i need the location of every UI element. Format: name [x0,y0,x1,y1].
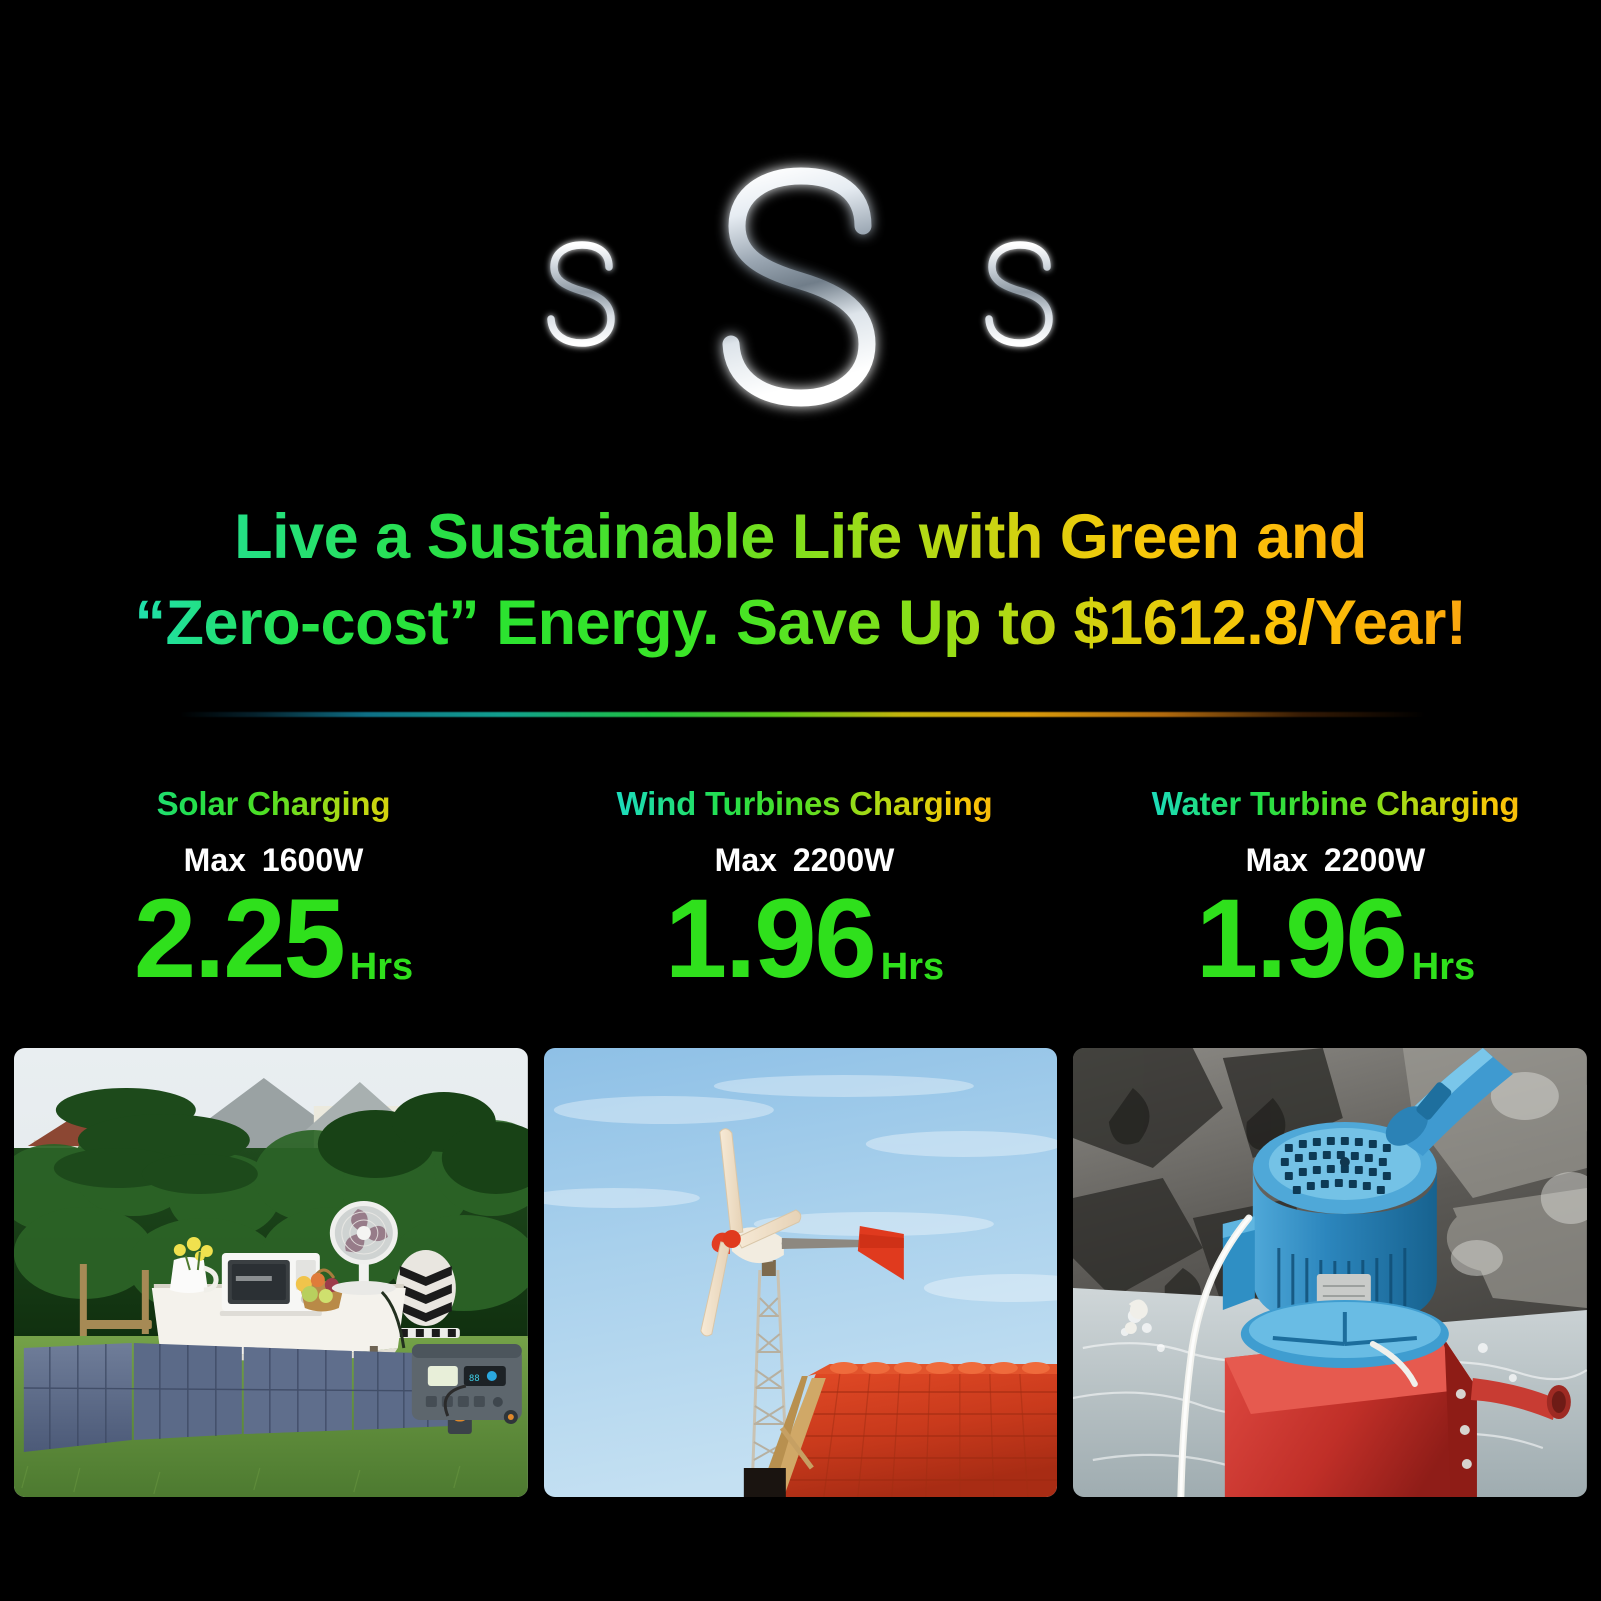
hours-unit: Hrs [881,948,944,992]
headline-line-2: “Zero-cost” Energy. Save Up to $1612.8/Y… [0,580,1601,666]
charging-stats-row: Solar Charging Max1600W 2.25 Hrs Wind Tu… [0,780,1601,992]
gradient-divider [180,712,1425,717]
headline: Live a Sustainable Life with Green and “… [0,494,1601,666]
hours-number: 1.96 [665,886,875,992]
stat-column-wind: Wind Turbines Charging Max2200W 1.96 Hrs [539,780,1070,992]
stat-column-water: Water Turbine Charging Max2200W 1.96 Hrs [1070,780,1601,992]
water-turbine-stream-photo [1073,1048,1587,1497]
stat-title-wind: Wind Turbines Charging [545,780,1064,828]
max-label: Max [715,842,777,878]
stat-title-solar: Solar Charging [14,780,533,828]
max-value: 1600W [262,842,363,878]
photo-strip: 88 [14,1048,1587,1497]
promo-page: Live a Sustainable Life with Green and “… [0,0,1601,1601]
dollar-sign-small-left-icon [523,223,641,373]
dollar-signs-icon [0,128,1601,468]
max-value: 2200W [1324,842,1425,878]
stat-max-water: Max2200W [1076,840,1595,880]
stat-max-wind: Max2200W [545,840,1064,880]
stat-column-solar: Solar Charging Max1600W 2.25 Hrs [0,780,539,992]
stat-hours-wind: 1.96 Hrs [545,886,1064,992]
stat-max-solar: Max1600W [14,840,533,880]
max-value: 2200W [793,842,894,878]
stat-title-water: Water Turbine Charging [1076,780,1595,828]
solar-panel-garden-photo: 88 [14,1048,528,1497]
hours-unit: Hrs [350,948,413,992]
max-label: Max [184,842,246,878]
hours-unit: Hrs [1412,948,1475,992]
svg-text:88: 88 [469,1374,480,1384]
headline-line-1: Live a Sustainable Life with Green and [0,494,1601,580]
dollar-sign-large-center-icon [667,138,935,458]
max-label: Max [1246,842,1308,878]
stat-hours-solar: 2.25 Hrs [14,886,533,992]
hours-number: 1.96 [1196,886,1406,992]
stat-hours-water: 1.96 Hrs [1076,886,1595,992]
wind-turbine-roof-photo [544,1048,1058,1497]
hours-number: 2.25 [134,886,344,992]
dollar-sign-small-right-icon [961,223,1079,373]
